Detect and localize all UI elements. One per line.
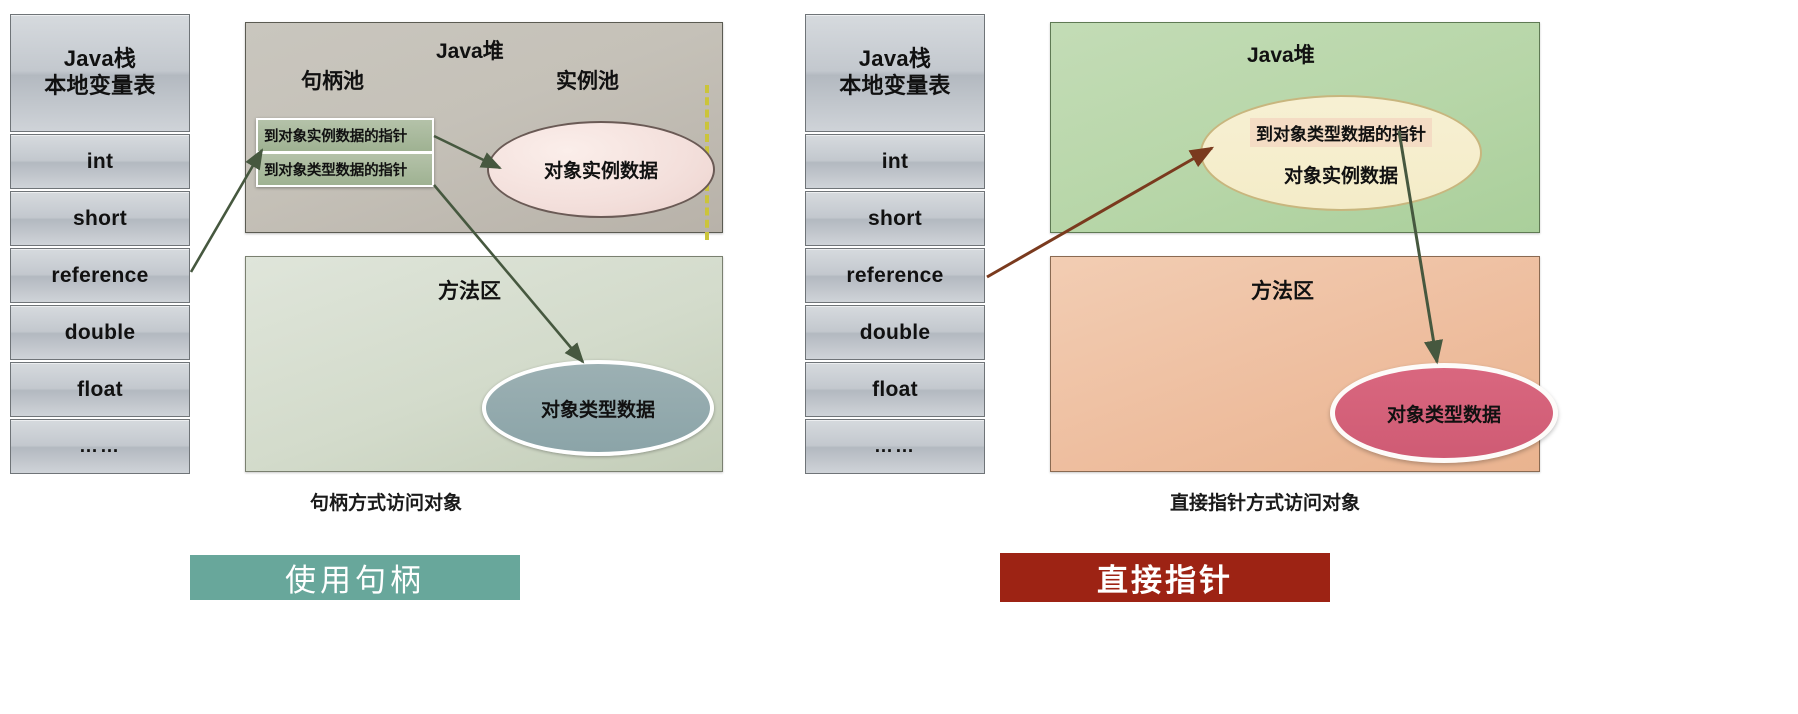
stack-header-right: Java栈 本地变量表 bbox=[805, 14, 985, 132]
stack-slot-int-right: int bbox=[805, 134, 985, 189]
stack-header-left: Java栈 本地变量表 bbox=[10, 14, 190, 132]
type-pointer-label: 到对象类型数据的指针 bbox=[1250, 118, 1432, 147]
stack-title-line2-right: 本地变量表 bbox=[839, 73, 951, 100]
handle-row-instance-pointer: 到对象实例数据的指针 bbox=[258, 120, 432, 151]
diagram-canvas: Java栈 本地变量表 int short reference double f… bbox=[0, 0, 1798, 714]
stack-slot-reference-right: reference bbox=[805, 248, 985, 303]
stack-slot-double-right: double bbox=[805, 305, 985, 360]
handle-pool-box: 到对象实例数据的指针 到对象类型数据的指针 bbox=[256, 118, 434, 187]
object-instance-data-label: 对象实例数据 bbox=[1284, 161, 1398, 188]
stack-title-line1-right: Java栈 bbox=[839, 46, 951, 73]
object-type-data-ellipse-right: 对象类型数据 bbox=[1330, 363, 1558, 463]
stack-title-line1: Java栈 bbox=[44, 46, 156, 73]
java-stack-left: Java栈 本地变量表 int short reference double f… bbox=[10, 14, 190, 476]
stack-slot-float-right: float bbox=[805, 362, 985, 417]
stack-slot-short: short bbox=[10, 191, 190, 246]
stack-slot-ellipsis-right: …… bbox=[805, 419, 985, 474]
object-instance-data-ellipse-left: 对象实例数据 bbox=[487, 121, 715, 218]
stack-slot-ellipsis: …… bbox=[10, 419, 190, 474]
object-instance-ellipse-right: 到对象类型数据的指针 对象实例数据 bbox=[1200, 95, 1482, 211]
stack-slot-double: double bbox=[10, 305, 190, 360]
object-type-data-ellipse-left: 对象类型数据 bbox=[482, 360, 714, 456]
heap-left-title: Java堆 bbox=[436, 35, 504, 65]
handle-pool-title: 句柄池 bbox=[301, 65, 364, 95]
stack-title-line2: 本地变量表 bbox=[44, 73, 156, 100]
stack-slot-short-right: short bbox=[805, 191, 985, 246]
handle-row-type-pointer: 到对象类型数据的指针 bbox=[258, 154, 432, 185]
caption-right: 直接指针方式访问对象 bbox=[1170, 488, 1360, 515]
banner-direct-pointer: 直接指针 bbox=[1000, 553, 1330, 602]
java-stack-right: Java栈 本地变量表 int short reference double f… bbox=[805, 14, 985, 476]
banner-use-handle: 使用句柄 bbox=[190, 555, 520, 600]
stack-slot-float: float bbox=[10, 362, 190, 417]
heap-right-title: Java堆 bbox=[1247, 39, 1315, 69]
method-area-left-title: 方法区 bbox=[438, 275, 501, 305]
stack-slot-int: int bbox=[10, 134, 190, 189]
caption-left: 句柄方式访问对象 bbox=[310, 488, 462, 515]
stack-slot-reference: reference bbox=[10, 248, 190, 303]
method-area-right-title: 方法区 bbox=[1251, 275, 1314, 305]
instance-pool-title: 实例池 bbox=[556, 65, 619, 95]
